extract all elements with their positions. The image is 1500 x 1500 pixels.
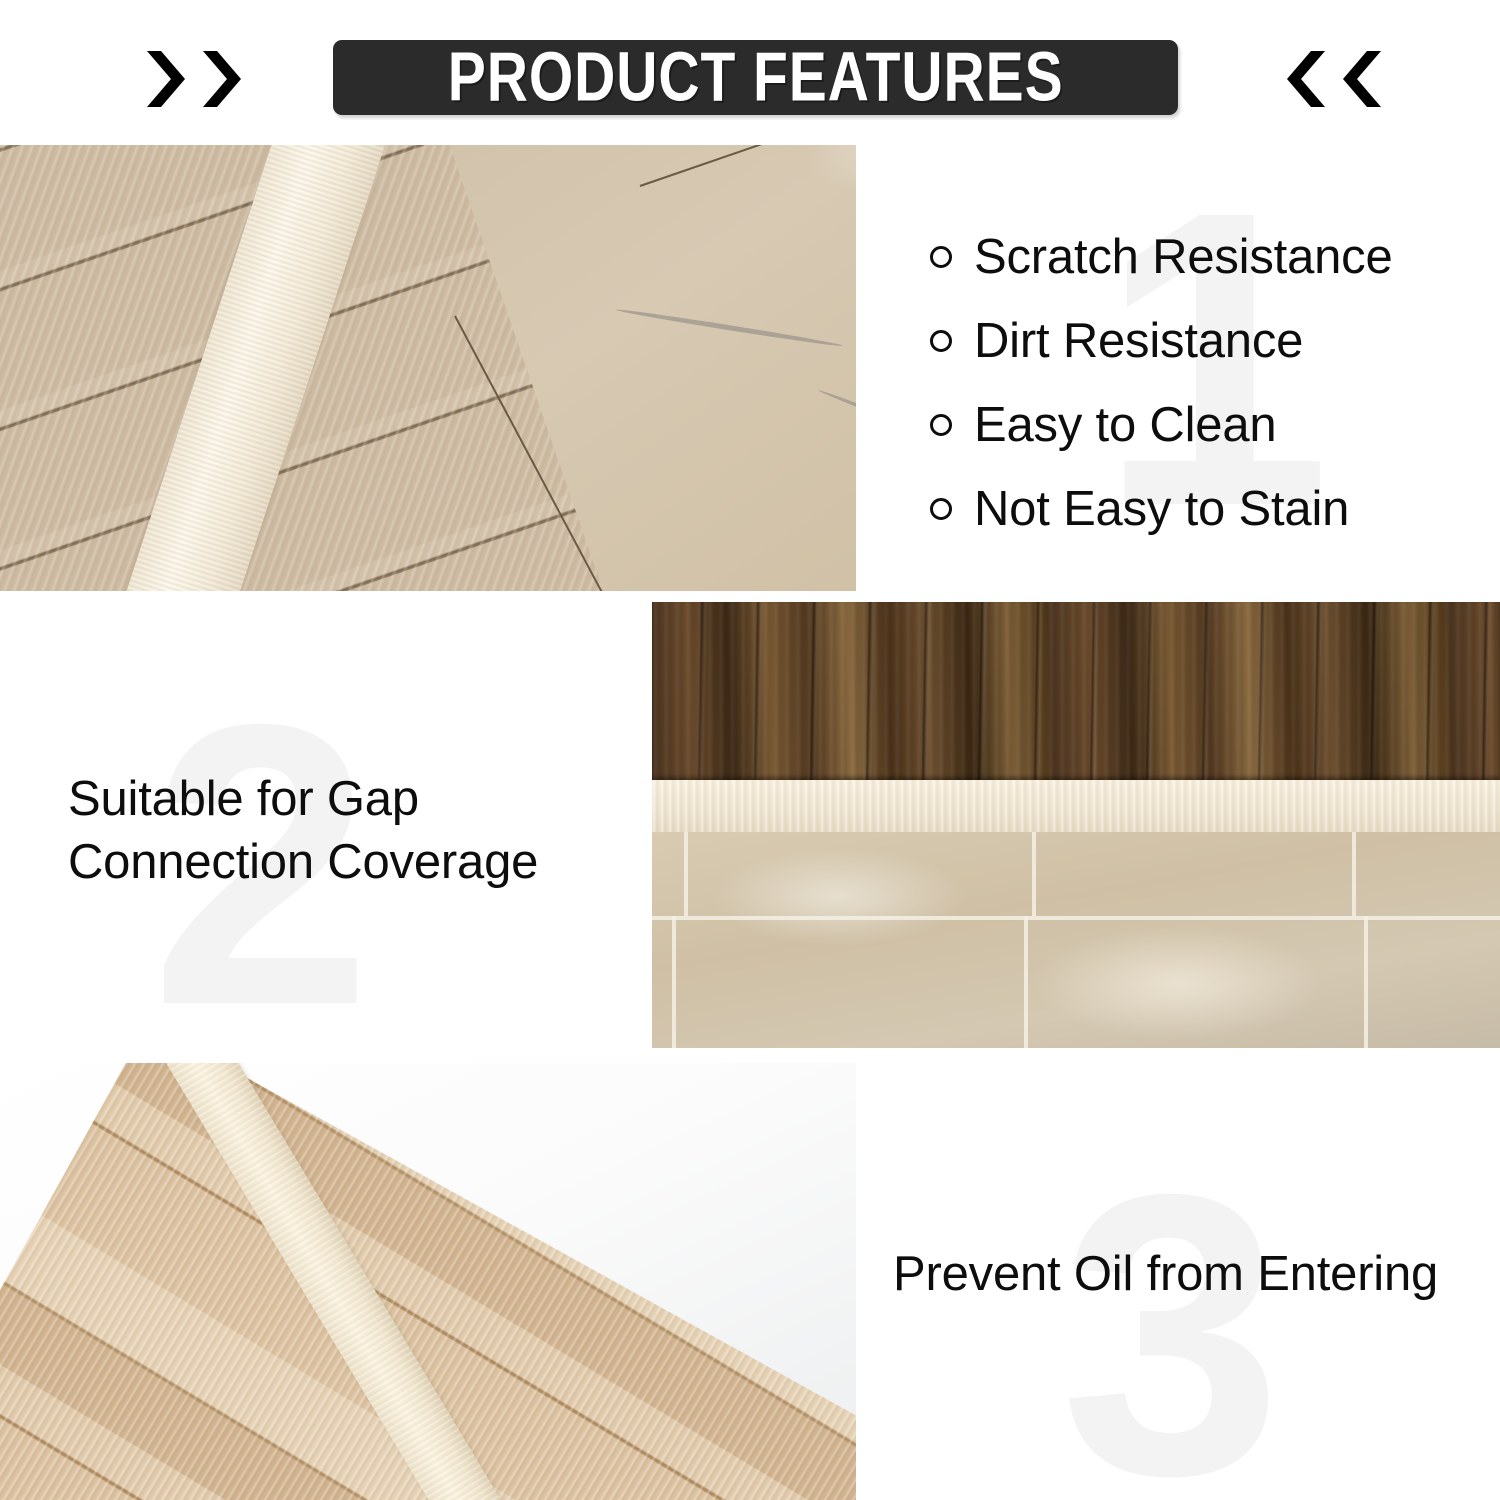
double-chevron-left-icon (1283, 48, 1385, 110)
list-item: Not Easy to Stain (930, 467, 1490, 551)
caption-line: Connection Coverage (68, 831, 628, 894)
photo-white-surface-to-light-oak-transition (0, 1063, 856, 1500)
double-chevron-right-icon (143, 48, 245, 110)
hollow-circle-bullet-icon (930, 498, 952, 520)
photo-wood-laminate-to-marble-tile-transition (0, 145, 856, 591)
feature-label: Easy to Clean (974, 401, 1276, 450)
page-title-plate: PRODUCT FEATURES (333, 40, 1178, 115)
caption-line: Prevent Oil from Entering (893, 1245, 1493, 1304)
feature-label: Scratch Resistance (974, 233, 1393, 282)
list-item: Easy to Clean (930, 383, 1490, 467)
transition-strip (652, 780, 1500, 832)
section-number-watermark-3: 3 (1060, 1135, 1282, 1500)
feature-label: Dirt Resistance (974, 317, 1303, 366)
header-band: PRODUCT FEATURES (0, 0, 1500, 140)
section-2-caption: Suitable for Gap Connection Coverage (68, 768, 628, 893)
dark-rustic-plank-texture (652, 602, 1500, 780)
page-title: PRODUCT FEATURES (448, 43, 1064, 112)
hollow-circle-bullet-icon (930, 414, 952, 436)
product-features-infographic: PRODUCT FEATURES 1 2 3 (0, 0, 1500, 1500)
list-item: Dirt Resistance (930, 299, 1490, 383)
hollow-circle-bullet-icon (930, 246, 952, 268)
photo-dark-plank-to-travertine-tile-transition (652, 602, 1500, 1048)
feature-list: Scratch Resistance Dirt Resistance Easy … (930, 215, 1490, 551)
section-3-caption: Prevent Oil from Entering (893, 1245, 1493, 1304)
caption-line: Suitable for Gap (68, 768, 628, 831)
feature-label: Not Easy to Stain (974, 485, 1349, 534)
travertine-tile-texture (652, 832, 1500, 1048)
hollow-circle-bullet-icon (930, 330, 952, 352)
list-item: Scratch Resistance (930, 215, 1490, 299)
